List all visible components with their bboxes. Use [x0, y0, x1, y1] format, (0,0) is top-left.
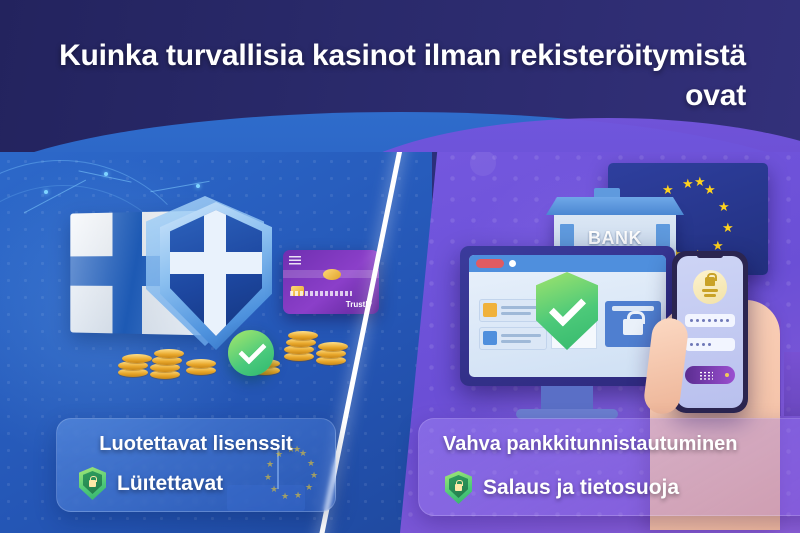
card-menu-lines — [289, 256, 301, 265]
password-field-2[interactable] — [685, 338, 735, 351]
page-title: Kuinka turvallisia kasinot ilman rekiste… — [56, 36, 746, 116]
trustly-credit-card: Trustly — [283, 250, 379, 314]
green-lock-shield-icon — [445, 471, 472, 504]
left-feature-badge[interactable]: ★ ★ ★ ★ ★ ★ ★ ★ ★ ★ ★ ★ Luotettavat lise… — [56, 418, 336, 512]
green-lock-shield-icon — [79, 467, 106, 500]
circuit-node — [196, 184, 200, 188]
form-row — [479, 327, 547, 350]
right-feature-badge[interactable]: Vahva pankkitunnistautuminen Salaus ja t… — [418, 418, 800, 516]
browser-address-pill — [476, 259, 504, 268]
page-title-line2: ovat — [56, 76, 746, 116]
left-badge-title: Luotettavat lisenssit — [99, 433, 292, 455]
header-curve-right — [320, 118, 800, 152]
green-check-circle — [228, 330, 274, 376]
keypad-button[interactable] — [685, 366, 735, 384]
infographic-canvas: Trustly ★ ★ ★ ★ ★ ★ ★ ★ ★ ★ ★ ★ — [0, 0, 800, 533]
circuit-node — [104, 172, 108, 176]
password-field-1[interactable] — [685, 314, 735, 327]
left-badge-subtitle: Lüıtettavat — [117, 472, 223, 496]
lock-avatar-icon — [693, 270, 727, 304]
right-badge-title: Vahva pankkitunnistautuminen — [443, 433, 738, 455]
circuit-node — [44, 190, 48, 194]
right-badge-subtitle: Salaus ja tietosuoja — [483, 476, 679, 500]
bokeh-dot — [470, 150, 496, 176]
page-title-line1: Kuinka turvallisia kasinot ilman rekiste… — [56, 36, 746, 76]
